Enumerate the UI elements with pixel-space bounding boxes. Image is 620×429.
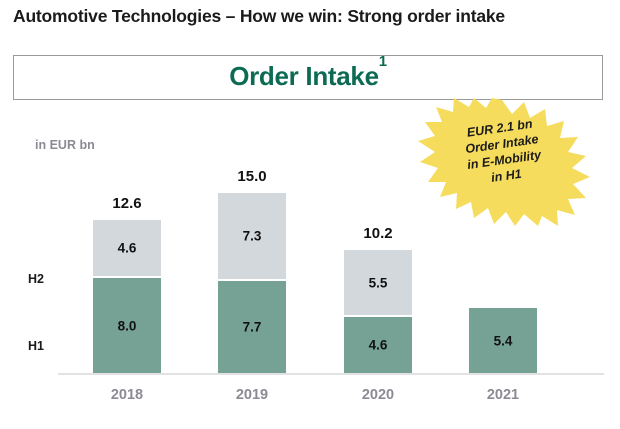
- chart-unit-label: in EUR bn: [35, 138, 95, 152]
- series-label-h2: H2: [28, 272, 62, 286]
- bar-segment-value-h2-2020: 5.5: [344, 275, 412, 290]
- bar-segment-h2-2019[interactable]: 7.3: [218, 193, 286, 281]
- bar-segment-h1-2019[interactable]: 7.7: [218, 281, 286, 373]
- headline-text: Order Intake1: [14, 61, 602, 92]
- bar-segment-value-h1-2021: 5.4: [469, 333, 537, 348]
- headline-label: Order Intake: [229, 61, 379, 91]
- bar-segment-h1-2018[interactable]: 8.0: [93, 278, 161, 373]
- bar-group-2020[interactable]: 10.2 5.5 4.6 2020: [344, 250, 412, 373]
- bar-segment-value-h1-2019: 7.7: [218, 320, 286, 335]
- category-label-2020: 2020: [338, 387, 418, 403]
- bar-group-2021[interactable]: 5.4 2021: [469, 308, 537, 373]
- bar-total-label-2019: 15.0: [218, 168, 286, 185]
- bar-total-label-2020: 10.2: [344, 225, 412, 242]
- category-label-2019: 2019: [212, 387, 292, 403]
- bar-segment-h1-2021[interactable]: 5.4: [469, 308, 537, 373]
- headline-footnote-marker: 1: [379, 53, 387, 70]
- bar-segment-value-h1-2020: 4.6: [344, 338, 412, 353]
- bar-segment-value-h2-2019: 7.3: [218, 229, 286, 244]
- headline-box: Order Intake1: [13, 55, 603, 100]
- bar-segment-h2-2020[interactable]: 5.5: [344, 250, 412, 317]
- starburst-callout: EUR 2.1 bn Order Intake in E-Mobility in…: [412, 98, 592, 226]
- bar-segment-h1-2020[interactable]: 4.6: [344, 317, 412, 373]
- bar-total-label-2018: 12.6: [93, 195, 161, 212]
- bar-group-2018[interactable]: 12.6 4.6 8.0 2018: [93, 220, 161, 373]
- bar-segment-value-h1-2018: 8.0: [93, 318, 161, 333]
- series-label-h1: H1: [28, 339, 62, 353]
- bar-segment-h2-2018[interactable]: 4.6: [93, 220, 161, 278]
- page-title: Automotive Technologies – How we win: St…: [13, 2, 613, 30]
- bar-segment-value-h2-2018: 4.6: [93, 241, 161, 256]
- category-label-2018: 2018: [87, 387, 167, 403]
- chart-x-axis-line: [58, 373, 604, 375]
- bar-group-2019[interactable]: 15.0 7.3 7.7 2019: [218, 193, 286, 373]
- category-label-2021: 2021: [463, 387, 543, 403]
